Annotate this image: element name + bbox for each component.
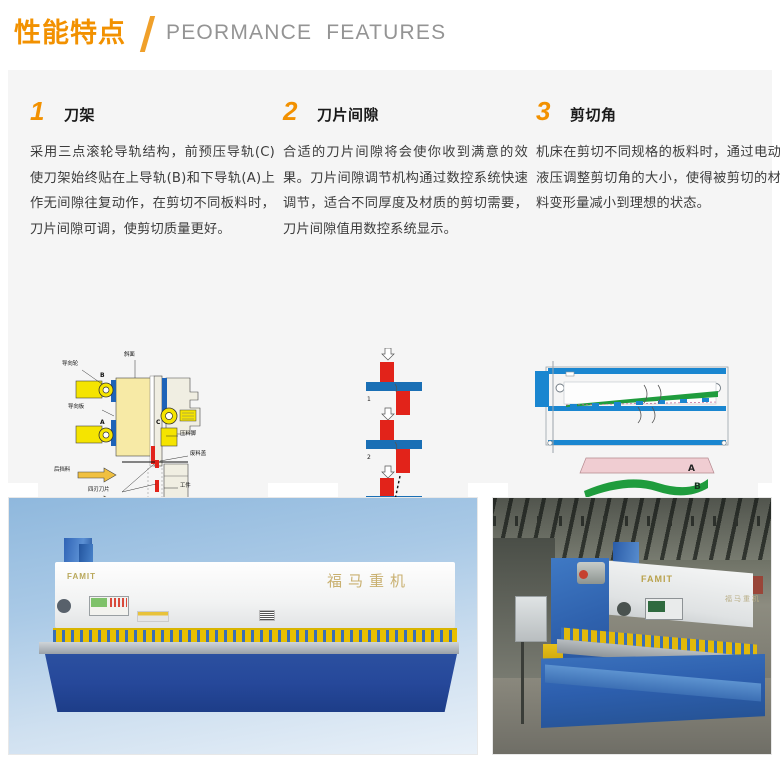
feature-2-title: 刀片间隙 xyxy=(317,104,379,125)
cnc-screen xyxy=(91,598,107,607)
svg-text:2: 2 xyxy=(367,454,371,461)
feature-column-1: 1 刀架 采用三点滚轮导轨结构，前预压导轨(C)使刀架始终贴在上导轨(B)和下导… xyxy=(30,98,275,243)
svg-text:1: 1 xyxy=(367,396,371,403)
diagram1-label-press-foot: 压料脚 xyxy=(180,432,196,437)
diagram1-label-rail-c: C xyxy=(156,420,160,426)
feature-1-heading: 1 刀架 xyxy=(30,98,275,128)
diagram1-label-back-gauge: 后挡料 xyxy=(54,468,70,473)
machine-studio-photo: FAMIT 福马重机 xyxy=(8,497,478,755)
machine-logo-right: FAMIT xyxy=(641,574,673,584)
machine-worktable xyxy=(39,642,459,654)
machine-logo-left: FAMIT xyxy=(67,572,96,581)
diagram1-label-guide-wheel: 导向轮 xyxy=(62,362,78,367)
slash-separator-icon xyxy=(136,14,162,52)
page-title-en: PEORMANCE FEATURES xyxy=(166,21,446,45)
workshop-truss xyxy=(493,516,771,526)
machine-base xyxy=(45,654,457,712)
nameplate-sticker xyxy=(259,610,275,621)
machine-brand-left: 福马重机 xyxy=(327,570,411,591)
feature-1-body: 采用三点滚轮导轨结构，前预压导轨(C)使刀架始终贴在上导轨(B)和下导轨(A)上… xyxy=(30,140,275,243)
warning-sticker xyxy=(137,611,169,622)
feature-3-heading: 3 剪切角 xyxy=(536,98,780,128)
feature-2-body: 合适的刀片间隙将会使你收到满意的效果。刀片间隙调节机构通过数控系统快速调节，适合… xyxy=(283,140,528,243)
machine-brand-right: 福马重机 xyxy=(725,594,761,604)
motor-indicator xyxy=(579,570,588,579)
feature-2-number: 2 xyxy=(283,98,311,124)
diagram1-label-slope: 斜面 xyxy=(124,353,135,358)
feature-column-2: 2 刀片间隙 合适的刀片间隙将会使你收到满意的效果。刀片间隙调节机构通过数控系统… xyxy=(283,98,528,243)
cnc-screen-right xyxy=(648,601,665,612)
page-title-cn: 性能特点 xyxy=(14,20,126,47)
features-panel: 1 刀架 采用三点滚轮导轨结构，前预压导轨(C)使刀架始终贴在上导轨(B)和下导… xyxy=(8,70,772,483)
machine-knob xyxy=(57,599,71,613)
diagram-3-svg: A B xyxy=(508,355,758,500)
feature-2-heading: 2 刀片间隙 xyxy=(283,98,528,128)
cnc-buttons xyxy=(110,598,127,607)
diagram1-label-workpiece: 工件 xyxy=(180,484,191,489)
diagram1-label-guide-plate: 导向板 xyxy=(68,405,84,410)
electrical-cabinet xyxy=(515,596,547,642)
feature-page: 性能特点 PEORMANCE FEATURES 1 刀架 采用三点滚轮导轨结构，… xyxy=(0,0,780,760)
feature-3-title: 剪切角 xyxy=(570,104,617,125)
shear-angle-diagram: A B xyxy=(508,355,758,500)
diagram1-label-rail-a: A xyxy=(100,420,105,426)
diagram1-label-rail-b: B xyxy=(100,373,105,379)
press-foot-row xyxy=(53,628,457,642)
svg-text:A: A xyxy=(688,464,695,474)
feature-1-title: 刀架 xyxy=(64,104,95,125)
machine-workshop-photo: FAMIT 福马重机 xyxy=(492,497,772,755)
diagram1-label-four-edge-blade: 四刃刀片 xyxy=(88,488,110,493)
page-header: 性能特点 PEORMANCE FEATURES xyxy=(0,0,780,66)
feature-3-body: 机床在剪切不同规格的板料时，通过电动液压调整剪切角的大小，使得被剪切的材料变形量… xyxy=(536,140,780,217)
diagram1-label-scrap-cover: 废料盖 xyxy=(190,452,206,457)
machine-knob-right xyxy=(617,602,631,616)
workshop-pole xyxy=(521,638,524,724)
svg-text:B: B xyxy=(694,482,701,492)
feature-3-number: 3 xyxy=(536,98,564,124)
feature-column-3: 3 剪切角 机床在剪切不同规格的板料时，通过电动液压调整剪切角的大小，使得被剪切… xyxy=(536,98,780,217)
feature-1-number: 1 xyxy=(30,98,58,124)
